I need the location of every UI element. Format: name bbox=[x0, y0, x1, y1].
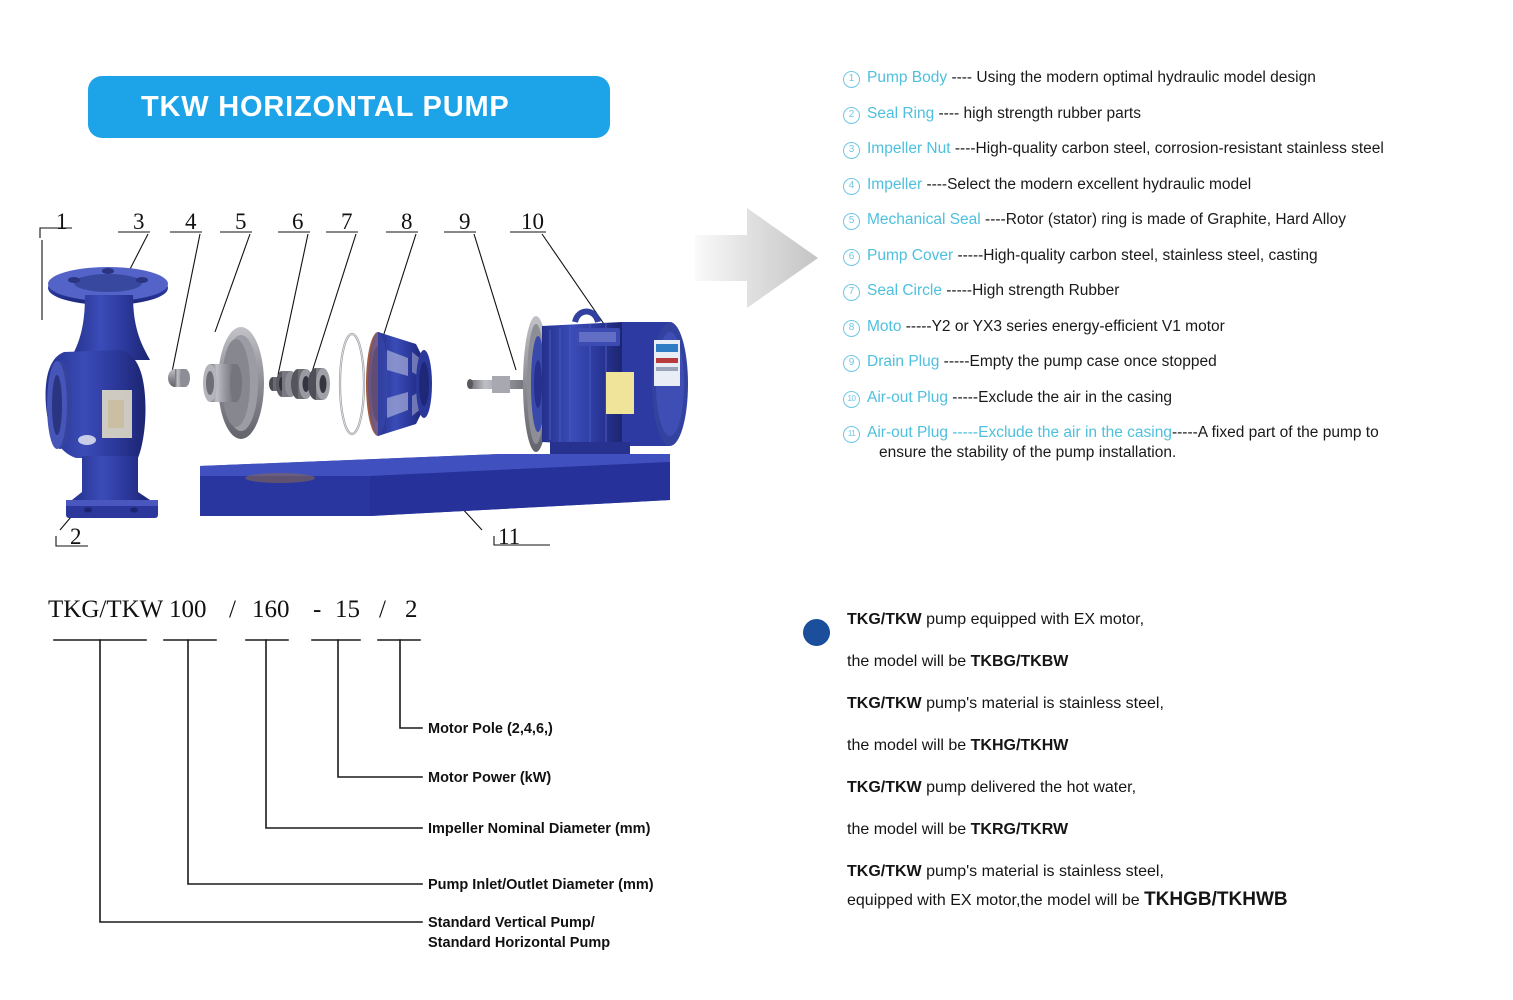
legend-part-name: Pump Cover bbox=[867, 247, 953, 264]
legend-number-icon: 8 bbox=[843, 320, 860, 337]
callout-number: 1 bbox=[56, 210, 68, 233]
model-nomenclature-diagram: TKG/TKW 100 / 160 - 15 / 2 bbox=[30, 596, 730, 966]
variant-line-text: the model will be bbox=[847, 821, 971, 838]
legend-text: Air-out Plug -----Exclude the air in the… bbox=[867, 423, 1503, 463]
pump-cover-part bbox=[366, 332, 432, 436]
page-title: TKW HORIZONTAL PUMP bbox=[141, 91, 510, 124]
pump-body-part bbox=[46, 267, 168, 518]
callout-number: 9 bbox=[459, 210, 471, 233]
callout-number: 6 bbox=[292, 210, 304, 233]
legend-item: 10 Air-out Plug -----Exclude the air in … bbox=[843, 388, 1503, 408]
legend-part-name: Air-out Plug bbox=[867, 389, 948, 406]
legend-part-desc: Rotor (stator) ring is made of Graphite,… bbox=[1006, 211, 1346, 228]
legend-separator: ---- bbox=[981, 211, 1006, 228]
legend-separator: ----- bbox=[939, 353, 969, 370]
legend-part-name: Mechanical Seal bbox=[867, 211, 981, 228]
legend-item: 8 Moto -----Y2 or YX3 series energy-effi… bbox=[843, 317, 1503, 337]
nomenclature-label-standard-pump-2: Standard Horizontal Pump bbox=[428, 934, 610, 954]
legend-part-desc: Y2 or YX3 series energy-efficient V1 mot… bbox=[932, 318, 1225, 335]
nomenclature-label-impeller-dia: Impeller Nominal Diameter (mm) bbox=[428, 820, 650, 840]
legend-number-icon: 1 bbox=[843, 71, 860, 88]
callout-number: 10 bbox=[521, 210, 544, 233]
variant-model-prefix: TKG/TKW bbox=[847, 863, 922, 880]
legend-part-desc: Empty the pump case once stopped bbox=[970, 353, 1217, 370]
impeller-nut-part bbox=[168, 369, 190, 387]
exploded-pump-diagram: 1 3 4 5 6 7 8 9 10 2 11 bbox=[30, 200, 710, 570]
variant-line-text: pump delivered the hot water, bbox=[922, 779, 1136, 796]
legend-text: Impeller ----Select the modern excellent… bbox=[867, 175, 1503, 195]
legend-part-desc: High strength Rubber bbox=[972, 282, 1119, 299]
legend-part-desc: High-quality carbon steel, corrosion-res… bbox=[976, 140, 1384, 157]
legend-part-desc: -----A fixed part of the pump to bbox=[1172, 424, 1379, 441]
variant-model-prefix: TKG/TKW bbox=[847, 695, 922, 712]
legend-item: 9 Drain Plug -----Empty the pump case on… bbox=[843, 352, 1503, 372]
legend-text: Air-out Plug -----Exclude the air in the… bbox=[867, 388, 1503, 408]
legend-part-desc: high strength rubber parts bbox=[963, 105, 1141, 122]
legend-number-icon: 6 bbox=[843, 249, 860, 266]
variant-line: TKG/TKW pump delivered the hot water, bbox=[847, 780, 1480, 796]
legend-text: Seal Ring ---- high strength rubber part… bbox=[867, 104, 1503, 124]
nomenclature-leader-lines bbox=[30, 596, 730, 966]
impeller-part bbox=[203, 327, 264, 439]
callout-number: 8 bbox=[401, 210, 413, 233]
variant-line: the model will be TKRG/TKRW bbox=[847, 822, 1480, 838]
variant-line-text: equipped with EX motor,the model will be bbox=[847, 892, 1144, 909]
legend-part-desc-continued: ensure the stability of the pump install… bbox=[879, 443, 1503, 463]
legend-item: 3 Impeller Nut ----High-quality carbon s… bbox=[843, 139, 1503, 159]
legend-part-name: Drain Plug bbox=[867, 353, 939, 370]
nomenclature-label-inlet-dia: Pump Inlet/Outlet Diameter (mm) bbox=[428, 876, 654, 896]
legend-text: Moto -----Y2 or YX3 series energy-effici… bbox=[867, 317, 1503, 337]
legend-part-desc: Using the modern optimal hydraulic model… bbox=[976, 69, 1315, 86]
variant-model-prefix: TKG/TKW bbox=[847, 611, 922, 628]
variant-lines: TKG/TKW pump equipped with EX motor, the… bbox=[847, 612, 1480, 909]
nomenclature-label-motor-pole: Motor Pole (2,4,6,) bbox=[428, 720, 553, 740]
legend-part-name: Impeller bbox=[867, 176, 922, 193]
legend-number-icon: 3 bbox=[843, 142, 860, 159]
legend-separator: ----- bbox=[953, 247, 983, 264]
legend-part-name: Seal Circle bbox=[867, 282, 942, 299]
legend-item: 11 Air-out Plug -----Exclude the air in … bbox=[843, 423, 1503, 463]
bullet-icon bbox=[803, 619, 830, 646]
legend-item: 2 Seal Ring ---- high strength rubber pa… bbox=[843, 104, 1503, 124]
legend-part-name: Air-out Plug bbox=[867, 424, 948, 441]
legend-part-name: Pump Body bbox=[867, 69, 947, 86]
legend-separator: ----- bbox=[948, 389, 978, 406]
legend-separator: ---- bbox=[951, 140, 976, 157]
callout-number: 3 bbox=[133, 210, 145, 233]
variant-line: TKG/TKW pump's material is stainless ste… bbox=[847, 864, 1480, 880]
legend-number-icon: 9 bbox=[843, 355, 860, 372]
legend-part-desc: High-quality carbon steel, stainless ste… bbox=[983, 247, 1317, 264]
motor-part bbox=[467, 312, 688, 459]
legend-item: 6 Pump Cover -----High-quality carbon st… bbox=[843, 246, 1503, 266]
callout-number: 11 bbox=[498, 525, 520, 548]
parts-legend-list: 1 Pump Body ---- Using the modern optima… bbox=[843, 68, 1503, 478]
variant-model-code: TKBG/TKBW bbox=[971, 653, 1069, 670]
variant-model-code: TKHG/TKHW bbox=[971, 737, 1069, 754]
legend-separator: ----- bbox=[901, 318, 931, 335]
legend-text: Seal Circle -----High strength Rubber bbox=[867, 281, 1503, 301]
legend-text: Pump Cover -----High-quality carbon stee… bbox=[867, 246, 1503, 266]
legend-item: 5 Mechanical Seal ----Rotor (stator) rin… bbox=[843, 210, 1503, 230]
legend-text: Drain Plug -----Empty the pump case once… bbox=[867, 352, 1503, 372]
pump-spec-sheet: TKW HORIZONTAL PUMP bbox=[0, 0, 1513, 1000]
callout-number: 5 bbox=[235, 210, 247, 233]
legend-separator: ----- bbox=[948, 424, 978, 441]
page-title-banner: TKW HORIZONTAL PUMP bbox=[88, 76, 610, 138]
legend-item: 1 Pump Body ---- Using the modern optima… bbox=[843, 68, 1503, 88]
variant-model-prefix: TKG/TKW bbox=[847, 779, 922, 796]
legend-number-icon: 7 bbox=[843, 284, 860, 301]
variant-line-text: pump's material is stainless steel, bbox=[922, 863, 1164, 880]
legend-number-icon: 5 bbox=[843, 213, 860, 230]
legend-item: 4 Impeller ----Select the modern excelle… bbox=[843, 175, 1503, 195]
legend-item: 7 Seal Circle -----High strength Rubber bbox=[843, 281, 1503, 301]
nomenclature-label-motor-power: Motor Power (kW) bbox=[428, 769, 551, 789]
legend-number-icon: 2 bbox=[843, 107, 860, 124]
variant-model-code: TKRG/TKRW bbox=[971, 821, 1068, 838]
legend-separator: ---- bbox=[922, 176, 947, 193]
variant-line: TKG/TKW pump equipped with EX motor, bbox=[847, 612, 1480, 628]
legend-number-icon: 4 bbox=[843, 178, 860, 195]
variant-line: the model will be TKHG/TKHW bbox=[847, 738, 1480, 754]
legend-text: Mechanical Seal ----Rotor (stator) ring … bbox=[867, 210, 1503, 230]
legend-part-desc: Select the modern excellent hydraulic mo… bbox=[947, 176, 1251, 193]
variant-line-text: the model will be bbox=[847, 653, 971, 670]
legend-part-name: Moto bbox=[867, 318, 901, 335]
legend-part-name: Impeller Nut bbox=[867, 140, 951, 157]
legend-part-desc-blue: Exclude the air in the casing bbox=[978, 424, 1172, 441]
nomenclature-label-standard-pump-1: Standard Vertical Pump/ bbox=[428, 914, 595, 934]
seal-circle-part bbox=[340, 334, 364, 434]
callout-number: 2 bbox=[70, 525, 82, 548]
legend-separator: ---- bbox=[947, 69, 976, 86]
right-arrow-icon bbox=[695, 203, 820, 313]
variant-line: TKG/TKW pump's material is stainless ste… bbox=[847, 696, 1480, 712]
legend-part-desc: Exclude the air in the casing bbox=[978, 389, 1172, 406]
legend-part-name: Seal Ring bbox=[867, 105, 934, 122]
legend-separator: ---- bbox=[934, 105, 963, 122]
legend-number-icon: 10 bbox=[843, 391, 860, 408]
callout-number: 4 bbox=[185, 210, 197, 233]
legend-text: Pump Body ---- Using the modern optimal … bbox=[867, 68, 1503, 88]
variant-line-text: pump equipped with EX motor, bbox=[922, 611, 1144, 628]
variant-line: equipped with EX motor,the model will be… bbox=[847, 890, 1480, 909]
legend-number-icon: 11 bbox=[843, 426, 860, 443]
model-variants-block: TKG/TKW pump equipped with EX motor, the… bbox=[800, 612, 1480, 909]
variant-line: the model will be TKBG/TKBW bbox=[847, 654, 1480, 670]
variant-model-code: TKHGB/TKHWB bbox=[1144, 889, 1288, 910]
legend-separator: ----- bbox=[942, 282, 972, 299]
variant-line-text: the model will be bbox=[847, 737, 971, 754]
variant-line-text: pump's material is stainless steel, bbox=[922, 695, 1164, 712]
base-plate-part bbox=[200, 454, 670, 516]
legend-text: Impeller Nut ----High-quality carbon ste… bbox=[867, 139, 1503, 159]
callout-number: 7 bbox=[341, 210, 353, 233]
